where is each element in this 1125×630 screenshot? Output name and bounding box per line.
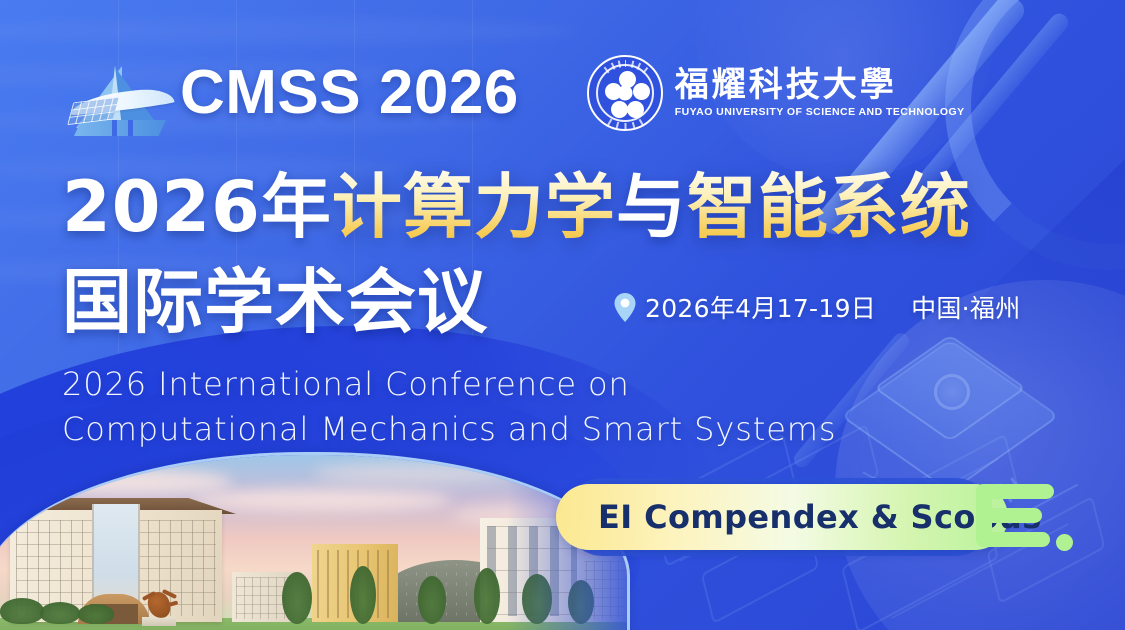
indexing-badge[interactable]: EI Compendex & Scopus [556,478,1076,562]
headline-conjunction: 与 [616,166,687,248]
location-pin-icon [614,293,636,322]
subtitle-line-2: Computational Mechanics and Smart System… [62,407,836,452]
pyramid-mesh-logo [68,48,176,138]
conference-code-title: CMSS 2026 [180,62,519,124]
university-seal-icon [587,55,663,131]
fuyao-campus-photo [0,452,630,630]
logo-row: CMSS 2026 [68,48,965,138]
campus-sculpture [142,586,176,626]
university-name-en: FUYAO UNIVERSITY OF SCIENCE AND TECHNOLO… [675,106,965,118]
event-meta: 2026年4月17-19日 中国·福州 [614,289,1021,325]
arc-ring-icon [945,0,1125,270]
event-date: 2026年4月17-19日 [645,289,876,325]
e-mark-icon [976,478,1072,562]
university-logo-block: 福耀科技大學 FUYAO UNIVERSITY OF SCIENCE AND T… [587,55,965,131]
headline-keyword-smart-systems: 智能系统 [687,166,971,248]
conference-banner: CMSS 2026 [0,0,1125,630]
event-location: 中国·福州 [911,289,1020,325]
headline-keyword-mechanics: 计算力学 [332,166,616,248]
subtitle-line-1: 2026 International Conference on [62,362,836,407]
english-subtitle: 2026 International Conference on Computa… [62,362,836,453]
headline-year: 2026年 [62,166,332,248]
university-name-cn: 福耀科技大學 [675,68,965,104]
